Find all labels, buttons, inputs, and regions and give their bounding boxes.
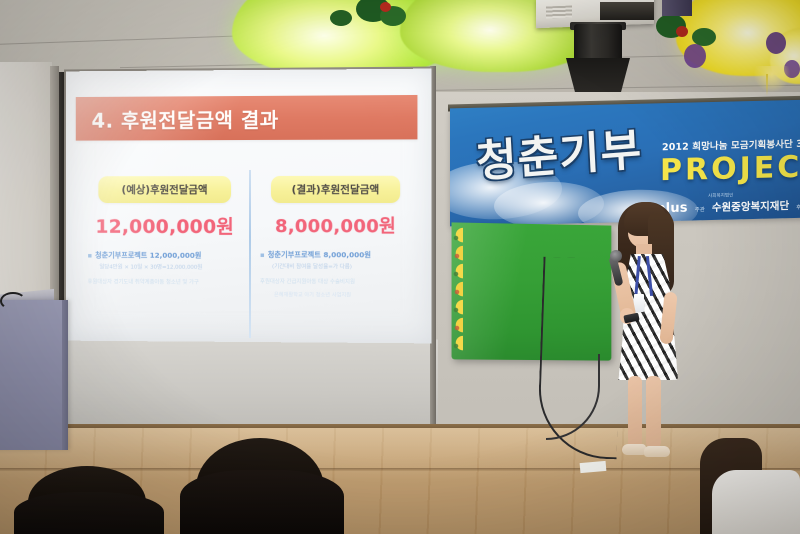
lectern	[0, 300, 68, 450]
presenter-left-shoe	[622, 444, 646, 455]
banner-brand-tagline: 사회복지법인	[708, 192, 733, 199]
slide-column-divider	[249, 170, 251, 338]
projection-screen: 4. 후원전달금액 결과 (예상)후원전달금액 12,000,000원 ▪ 청춘…	[66, 69, 432, 344]
result-bullet-list: ▪ 청춘기부프로젝트 8,000,000원 (기간대비 참여율 달성율=가 다름…	[260, 250, 411, 299]
projector-panel	[662, 0, 692, 16]
presenter-left-leg	[628, 376, 642, 448]
result-amount-value: 8,000,000원	[260, 212, 411, 238]
presenter-right-shoe	[644, 446, 670, 457]
photo-scene: 청춘기부 2012 희망나눔 모금기획봉사단 3 PROJECT et plus…	[0, 0, 800, 534]
floor-seam	[0, 468, 800, 471]
flower-center-icon	[380, 2, 391, 12]
slide-column-result: (결과)후원전달금액 8,000,000원 ▪ 청춘기부프로젝트 8,000,0…	[260, 176, 411, 299]
projector-lens	[600, 2, 654, 20]
audience-member-front-left-hair	[14, 492, 164, 534]
flower-ornament-icon	[330, 10, 352, 26]
bullet-subtext: (기간대비 참여율 달성율=가 다름)	[272, 262, 411, 271]
purple-flower-icon	[684, 44, 706, 68]
speaker-bracket	[566, 58, 630, 92]
result-amount-pill: (결과)후원전달금액	[271, 176, 400, 203]
board-border-dots	[452, 230, 461, 356]
bullet-dot-icon: ▪	[88, 251, 93, 261]
bullet-text: 청춘기부프로젝트 8,000,000원	[268, 250, 371, 260]
screen-lower-board	[64, 340, 438, 431]
expected-amount-label: (예상)후원전달금액	[102, 182, 227, 197]
presenter-right-leg	[646, 376, 661, 448]
flower-center-icon	[676, 26, 688, 37]
bullet-faint-line: 후원대상자 긴급지원아동 대상 수술비지원	[260, 277, 411, 286]
banner-sponsor-role: 후원	[796, 203, 800, 213]
presenter-id-badge	[634, 294, 644, 312]
banner-host-role: 주관	[695, 205, 705, 215]
bullet-faint-line: 후원대상자 경기도내 취약계층아동 청소년 및 가구	[88, 278, 242, 287]
result-amount-label: (결과)후원전달금액	[275, 182, 396, 197]
slide-column-expected: (예상)후원전달금액 12,000,000원 ▪ 청춘기부프로젝트 12,000…	[88, 176, 242, 286]
bullet-faint-line: 은혜재활학교 아기 청소년 사업지원	[274, 291, 411, 299]
banner-host-org: 수원중앙복지재단	[712, 198, 789, 215]
banner-project-word: PROJECT	[660, 149, 800, 188]
audience-member-front-right-body	[712, 470, 800, 534]
lectern-edge	[62, 300, 68, 450]
banner-headline: 청춘기부	[474, 113, 643, 190]
projector-vent	[546, 6, 572, 19]
audience-member-front-center-hair	[180, 470, 344, 534]
slide-title: 4. 후원전달금액 결과	[76, 103, 279, 133]
presenter	[596, 196, 692, 464]
bullet-text: 청춘기부프로젝트 12,000,000원	[95, 251, 201, 261]
bullet-dot-icon: ▪	[260, 250, 265, 260]
lectern-cable	[0, 292, 26, 310]
expected-amount-pill: (예상)후원전달금액	[98, 176, 231, 203]
slide-title-bar: 4. 후원전달금액 결과	[76, 95, 418, 141]
bullet-subtext: 일당4만원 × 10일 × 30명=12,000,000원	[99, 263, 242, 271]
expected-amount-value: 12,000,000원	[88, 212, 242, 239]
bullet-item: ▪ 청춘기부프로젝트 8,000,000원	[260, 250, 411, 261]
bullet-item: ▪ 청춘기부프로젝트 12,000,000원	[88, 251, 242, 262]
expected-bullet-list: ▪ 청춘기부프로젝트 12,000,000원 일당4만원 × 10일 × 30명…	[88, 251, 242, 287]
streamer-decoration	[754, 66, 790, 92]
microphone-head-icon	[610, 250, 622, 262]
purple-flower-icon	[766, 32, 786, 54]
streamer-tail	[766, 74, 768, 96]
